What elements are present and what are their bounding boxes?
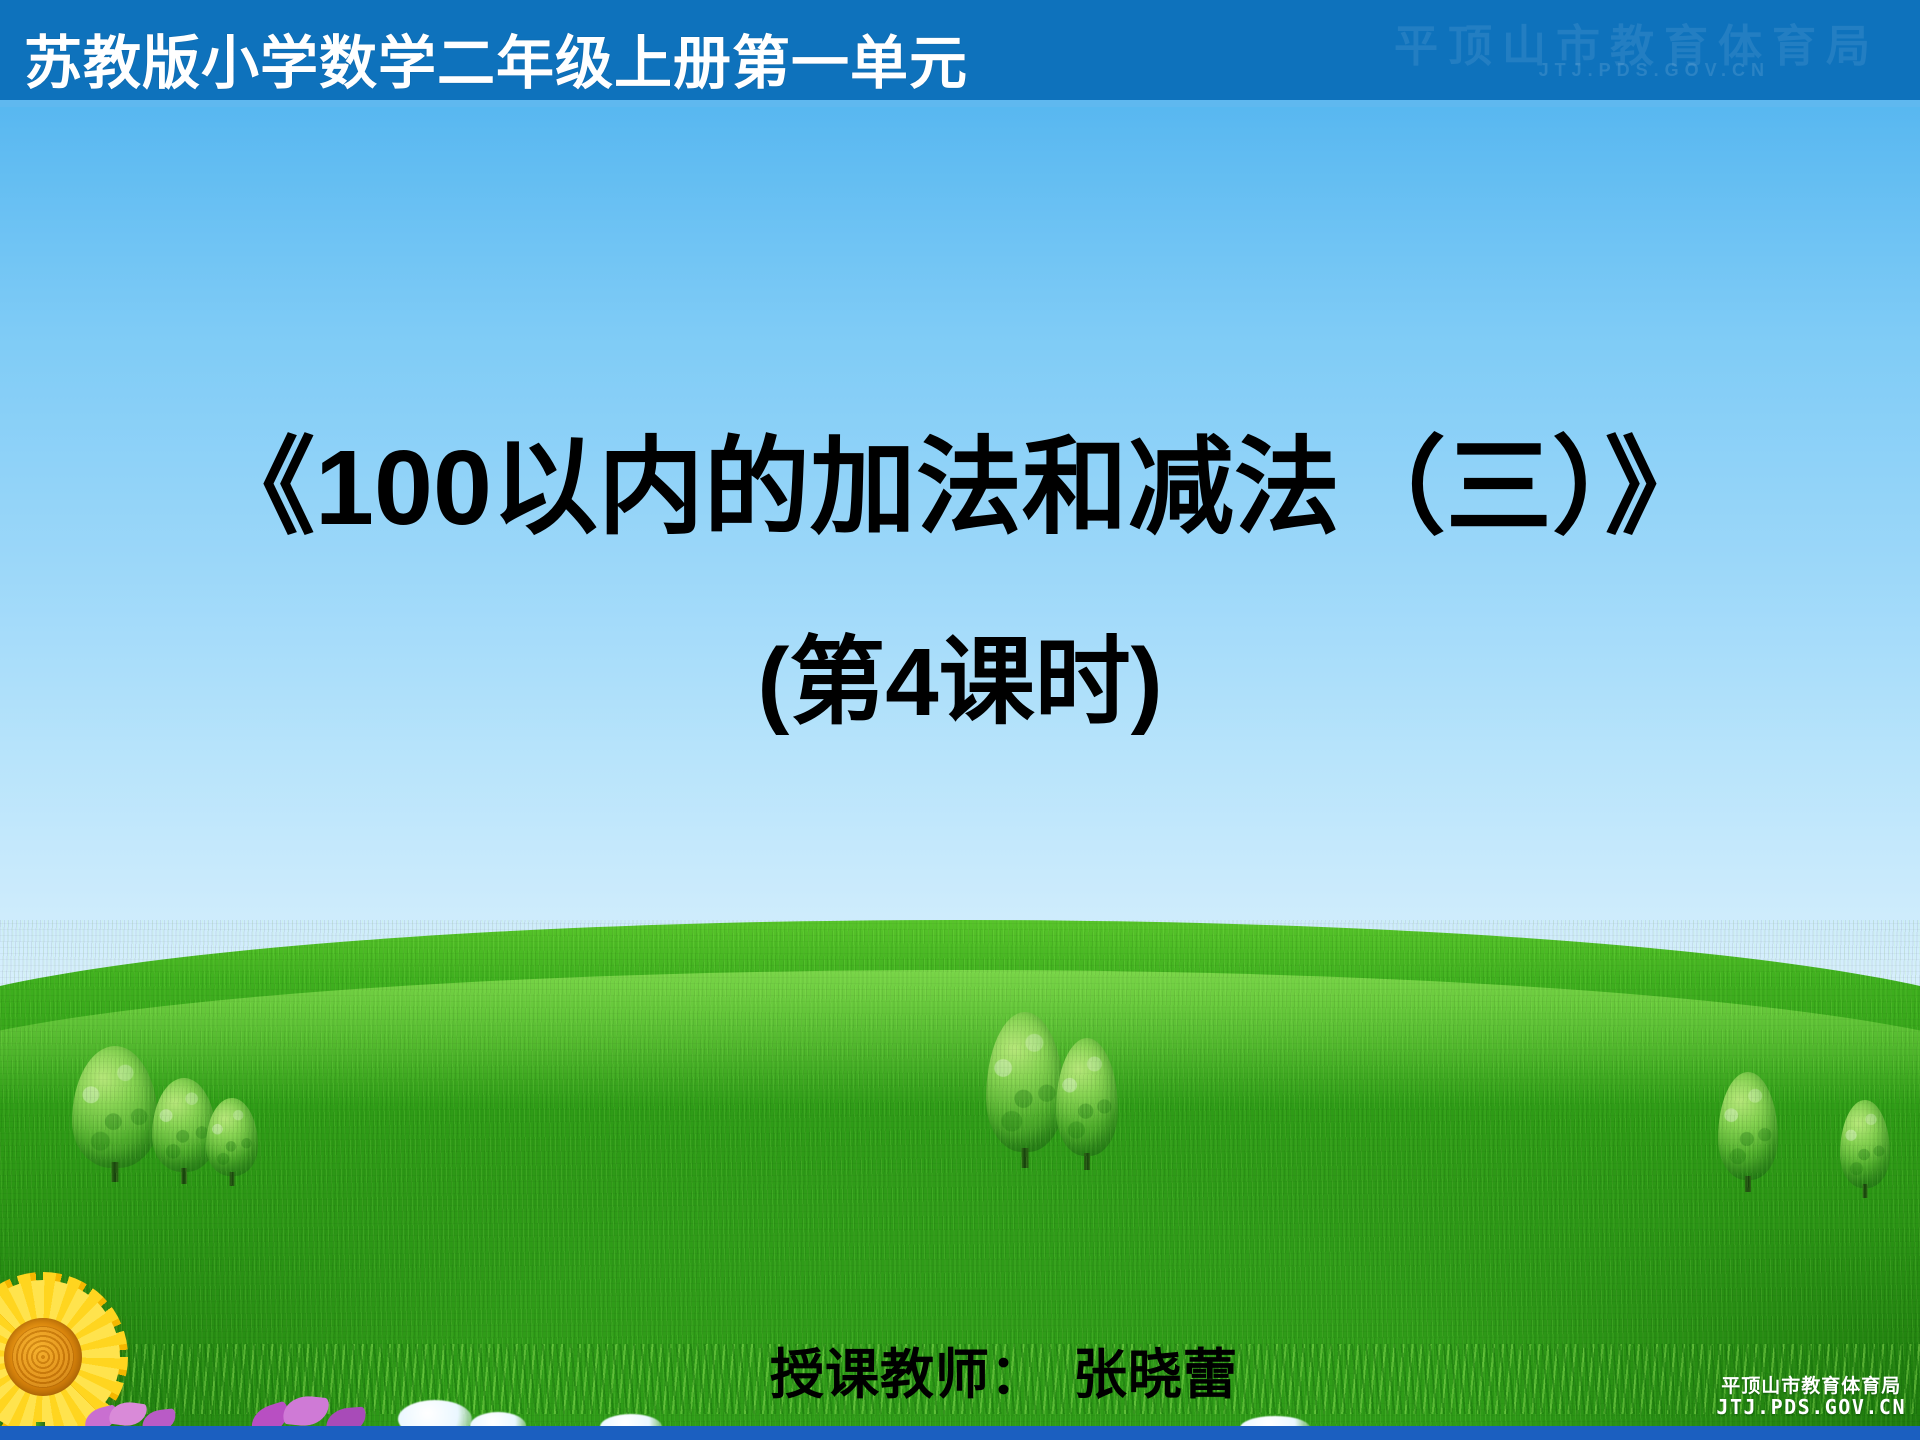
- banner-watermark-bottom-text: JTJ.PDS.GOV.CN: [1539, 60, 1770, 81]
- corner-watermark-line1: 平顶山市教育体育局: [1716, 1377, 1906, 1397]
- presentation-slide: 平顶山市教育体育局 JTJ.PDS.GOV.CN 苏教版小学数学二年级上册第一单…: [0, 0, 1920, 1440]
- header-banner: 平顶山市教育体育局 JTJ.PDS.GOV.CN 苏教版小学数学二年级上册第一单…: [0, 0, 1920, 100]
- credits-block: 授课教师： 张晓蕾 单 位：平顶山市新城区公明路小学: [770, 1222, 1760, 1440]
- bottom-strip: [0, 1426, 1920, 1440]
- banner-bottom-rule: [0, 100, 1920, 107]
- corner-watermark-line2: JTJ.PDS.GOV.CN: [1716, 1397, 1906, 1418]
- unit-title-text: 苏教版小学数学二年级上册第一单元: [24, 16, 968, 100]
- page-subtitle: (第4课时): [0, 630, 1920, 736]
- corner-watermark: 平顶山市教育体育局 JTJ.PDS.GOV.CN: [1716, 1377, 1906, 1418]
- page-title: 《100以内的加法和减法（三）》: [0, 430, 1920, 547]
- credits-teacher-line: 授课教师： 张晓蕾: [770, 1345, 1760, 1407]
